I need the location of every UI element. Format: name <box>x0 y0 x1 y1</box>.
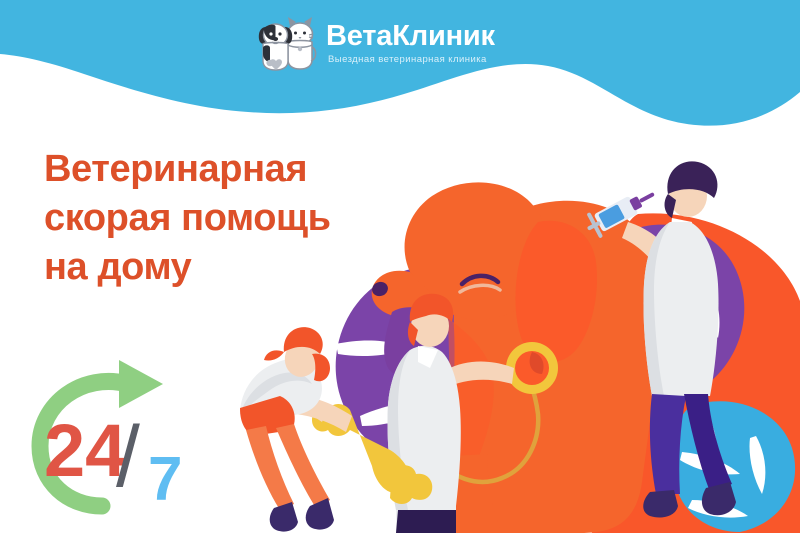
badge-days: 7 <box>148 445 182 514</box>
headline-line-1: Ветеринарная <box>44 145 434 194</box>
brand-name: ВетаКлиник <box>326 21 495 51</box>
veterinary-clinic-banner: ВетаКлиник Выездная ветеринарная клиника <box>0 0 800 533</box>
logo-block[interactable]: ВетаКлиник Выездная ветеринарная клиника <box>255 14 495 72</box>
dog-mascot <box>259 24 292 70</box>
brand-tagline: Выездная ветеринарная клиника <box>328 54 495 65</box>
page-title: Ветеринарная скорая помощь на дому <box>44 145 434 292</box>
headline-line-2: скорая помощь <box>44 194 434 243</box>
badge-separator: / <box>116 409 140 505</box>
24-7-availability-badge: 24 / 7 <box>18 358 218 523</box>
headline-line-3: на дому <box>44 243 434 292</box>
cat-mascot <box>287 17 316 69</box>
logo-text-group: ВетаКлиник Выездная ветеринарная клиника <box>326 21 495 65</box>
dog-and-cat-logo-icon <box>255 14 317 72</box>
badge-hours: 24 <box>44 409 126 492</box>
